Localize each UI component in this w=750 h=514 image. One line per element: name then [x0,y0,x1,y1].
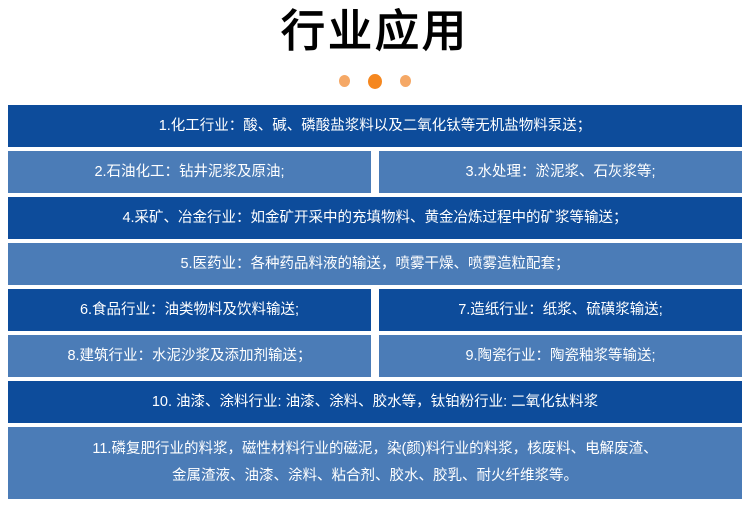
application-row: 10. 油漆、涂料行业: 油漆、涂料、胶水等，钛铂粉行业: 二氧化钛料浆 [8,381,742,423]
page-header: 行业应用 [0,0,750,88]
dot-right-icon [400,75,411,87]
application-item-text: 4.采矿、冶金行业：如金矿开采中的充填物料、黄金冶炼过程中的矿浆等输送； [14,207,736,229]
application-item[interactable]: 4.采矿、冶金行业：如金矿开采中的充填物料、黄金冶炼过程中的矿浆等输送； [8,197,742,239]
application-item[interactable]: 1.化工行业：酸、碱、磷酸盐浆料以及二氧化钛等无机盐物料泵送； [8,105,742,147]
application-item[interactable]: 7.造纸行业：纸浆、硫磺浆输送; [379,289,742,331]
dot-center-icon [368,74,382,89]
application-item-text: 2.石油化工：钻井泥浆及原油; [14,161,365,183]
application-item[interactable]: 10. 油漆、涂料行业: 油漆、涂料、胶水等，钛铂粉行业: 二氧化钛料浆 [8,381,742,423]
application-item-text: 5.医药业：各种药品料液的输送，喷雾干燥、喷雾造粒配套； [14,253,736,275]
application-row: 11.磷复肥行业的料浆，磁性材料行业的磁泥，染(颜)料行业的料浆，核废料、电解废… [8,427,742,499]
application-item-text: 1.化工行业：酸、碱、磷酸盐浆料以及二氧化钛等无机盐物料泵送； [14,115,736,137]
application-item-text: 9.陶瓷行业：陶瓷釉浆等输送; [385,345,736,367]
application-row: 6.食品行业：油类物料及饮料输送;7.造纸行业：纸浆、硫磺浆输送; [8,289,742,331]
application-item[interactable]: 8.建筑行业：水泥沙浆及添加剂输送； [8,335,371,377]
application-item[interactable]: 9.陶瓷行业：陶瓷釉浆等输送; [379,335,742,377]
dot-left-icon [339,75,350,87]
application-list: 1.化工行业：酸、碱、磷酸盐浆料以及二氧化钛等无机盐物料泵送；2.石油化工：钻井… [0,105,750,499]
application-row: 4.采矿、冶金行业：如金矿开采中的充填物料、黄金冶炼过程中的矿浆等输送； [8,197,742,239]
application-item[interactable]: 6.食品行业：油类物料及饮料输送; [8,289,371,331]
application-item[interactable]: 2.石油化工：钻井泥浆及原油; [8,151,371,193]
application-row: 1.化工行业：酸、碱、磷酸盐浆料以及二氧化钛等无机盐物料泵送； [8,105,742,147]
application-item-text-line1: 11.磷复肥行业的料浆，磁性材料行业的磁泥，染(颜)料行业的料浆，核废料、电解废… [14,436,736,463]
application-item-text-line2: 金属渣液、油漆、涂料、粘合剂、胶水、胶乳、耐火纤维浆等。 [14,463,736,490]
application-row: 5.医药业：各种药品料液的输送，喷雾干燥、喷雾造粒配套； [8,243,742,285]
application-row: 8.建筑行业：水泥沙浆及添加剂输送；9.陶瓷行业：陶瓷釉浆等输送; [8,335,742,377]
application-item[interactable]: 11.磷复肥行业的料浆，磁性材料行业的磁泥，染(颜)料行业的料浆，核废料、电解废… [8,427,742,499]
application-item-text: 6.食品行业：油类物料及饮料输送; [14,299,365,321]
application-item-text: 10. 油漆、涂料行业: 油漆、涂料、胶水等，钛铂粉行业: 二氧化钛料浆 [14,391,736,413]
application-item[interactable]: 5.医药业：各种药品料液的输送，喷雾干燥、喷雾造粒配套； [8,243,742,285]
application-item-text: 3.水处理：淤泥浆、石灰浆等; [385,161,736,183]
application-item-text: 8.建筑行业：水泥沙浆及添加剂输送； [14,345,365,367]
decorative-dots [0,74,750,88]
application-item-text: 7.造纸行业：纸浆、硫磺浆输送; [385,299,736,321]
page-title: 行业应用 [0,6,750,58]
application-item[interactable]: 3.水处理：淤泥浆、石灰浆等; [379,151,742,193]
application-row: 2.石油化工：钻井泥浆及原油;3.水处理：淤泥浆、石灰浆等; [8,151,742,193]
industry-application-page: 行业应用 1.化工行业：酸、碱、磷酸盐浆料以及二氧化钛等无机盐物料泵送；2.石油… [0,0,750,514]
